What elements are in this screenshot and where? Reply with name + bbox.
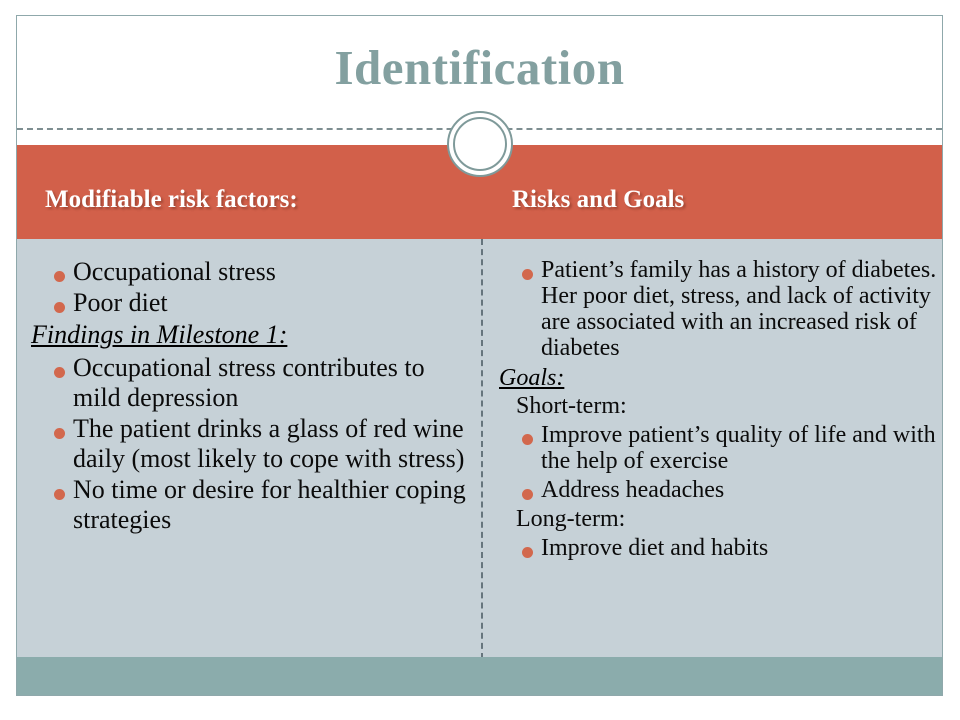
list-item: Poor diet (31, 288, 471, 318)
list-item: Occupational stress (31, 257, 471, 287)
column-divider (481, 239, 483, 659)
bullet-list-left: Occupational stress Poor diet Findings i… (31, 257, 471, 535)
list-item: Address headaches (499, 477, 939, 503)
list-item: No time or desire for healthier coping s… (31, 475, 471, 535)
section-heading: Goals: (499, 365, 939, 391)
slide: Identification Modifiable risk factors: … (16, 15, 943, 696)
list-item: Improve diet and habits (499, 535, 939, 561)
circle-ornament-icon (447, 111, 513, 177)
section-heading: Findings in Milestone 1: (31, 320, 471, 350)
page-title: Identification (17, 38, 942, 98)
list-item: The patient drinks a glass of red wine d… (31, 414, 471, 474)
ring-inner-icon (453, 117, 507, 171)
footer-bar (17, 657, 942, 695)
content-column-left: Occupational stress Poor diet Findings i… (31, 257, 471, 536)
sub-label: Long-term: (499, 506, 939, 532)
list-item: Improve patient’s quality of life and wi… (499, 422, 939, 474)
list-item: Occupational stress contributes to mild … (31, 353, 471, 413)
bullet-list-right: Patient’s family has a history of diabet… (499, 257, 939, 561)
content-area: Occupational stress Poor diet Findings i… (17, 239, 942, 659)
sub-label: Short-term: (499, 393, 939, 419)
column-header-right: Risks and Goals (512, 186, 684, 214)
column-header-left: Modifiable risk factors: (45, 186, 298, 214)
list-item: Patient’s family has a history of diabet… (499, 257, 939, 361)
content-column-right: Patient’s family has a history of diabet… (499, 257, 939, 564)
